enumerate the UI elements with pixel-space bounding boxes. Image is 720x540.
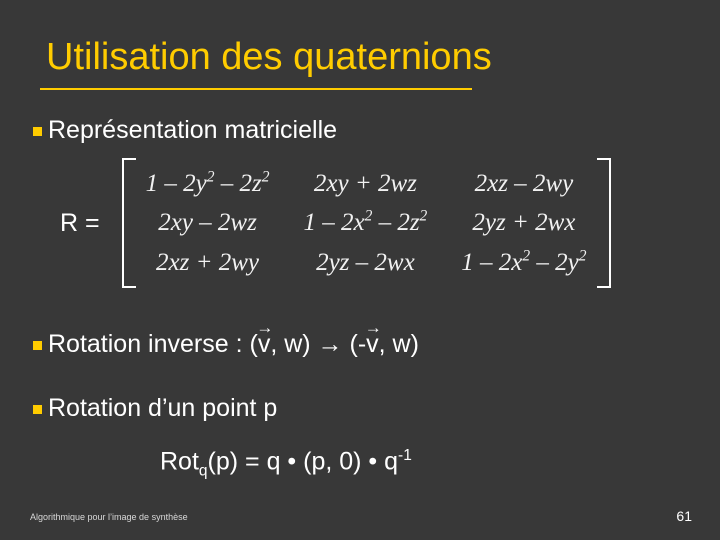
matrix-cell-r3c3: 1 – 2x2 – 2y2 [461,245,586,281]
page-number: 61 [676,508,692,524]
matrix-cell-r1c1: 1 – 2y2 – 2z2 [146,166,270,202]
matrix-equation: R = 1 – 2y2 – 2z2 2xy + 2wz 2xz – 2wy 2x… [60,158,611,288]
matrix-left-bracket [122,158,136,288]
rotation-inverse-mid: , w) → (- [270,330,366,358]
bullet-item-rotation-inverse: Rotation inverse : (→v, w) → (-→v, w) [33,332,419,357]
rotation-formula-subscript: q [199,462,208,479]
bullet-item-representation: Représentation matricielle [33,118,337,143]
matrix-cell-r1c2: 2xy + 2wz [303,166,427,202]
vector-v-first: →v [258,332,271,357]
page-title: Utilisation des quaternions [46,36,492,79]
title-underline-rule [40,88,472,90]
matrix-cell-r2c3: 2yz + 2wx [461,205,586,241]
rotation-inverse-prefix: Rotation inverse : ( [48,330,258,358]
square-bullet-icon [33,127,42,136]
square-bullet-icon [33,341,42,350]
bullet-label-representation: Représentation matricielle [48,118,337,143]
bullet-label-rotation-point: Rotation d’un point p [48,396,277,421]
matrix-cell-r3c2: 2yz – 2wx [303,245,427,281]
rotation-formula-name: Rot [160,447,199,475]
matrix-cell-r2c2: 1 – 2x2 – 2z2 [303,205,427,241]
footer-text: Algorithmique pour l’image de synthèse [30,512,188,522]
rotation-inverse-suffix: , w) [379,330,419,358]
rotation-formula-args: (p) = q • (p, 0) • q [208,447,399,475]
matrix-label: R = [60,209,100,238]
square-bullet-icon [33,405,42,414]
rotation-formula-exponent: -1 [398,447,412,464]
matrix-right-bracket [597,158,611,288]
bullet-label-rotation-inverse: Rotation inverse : (→v, w) → (-→v, w) [48,332,419,357]
matrix-grid: 1 – 2y2 – 2z2 2xy + 2wz 2xz – 2wy 2xy – … [136,162,597,285]
slide: Utilisation des quaternions Représentati… [0,0,720,540]
vector-v-second: →v [366,332,379,357]
matrix-cell-r3c1: 2xz + 2wy [146,245,270,281]
rotation-formula: Rotq(p) = q • (p, 0) • q-1 [160,447,412,480]
bullet-item-rotation-point: Rotation d’un point p [33,396,277,421]
matrix-cell-r1c3: 2xz – 2wy [461,166,586,202]
matrix-cell-r2c1: 2xy – 2wz [146,205,270,241]
